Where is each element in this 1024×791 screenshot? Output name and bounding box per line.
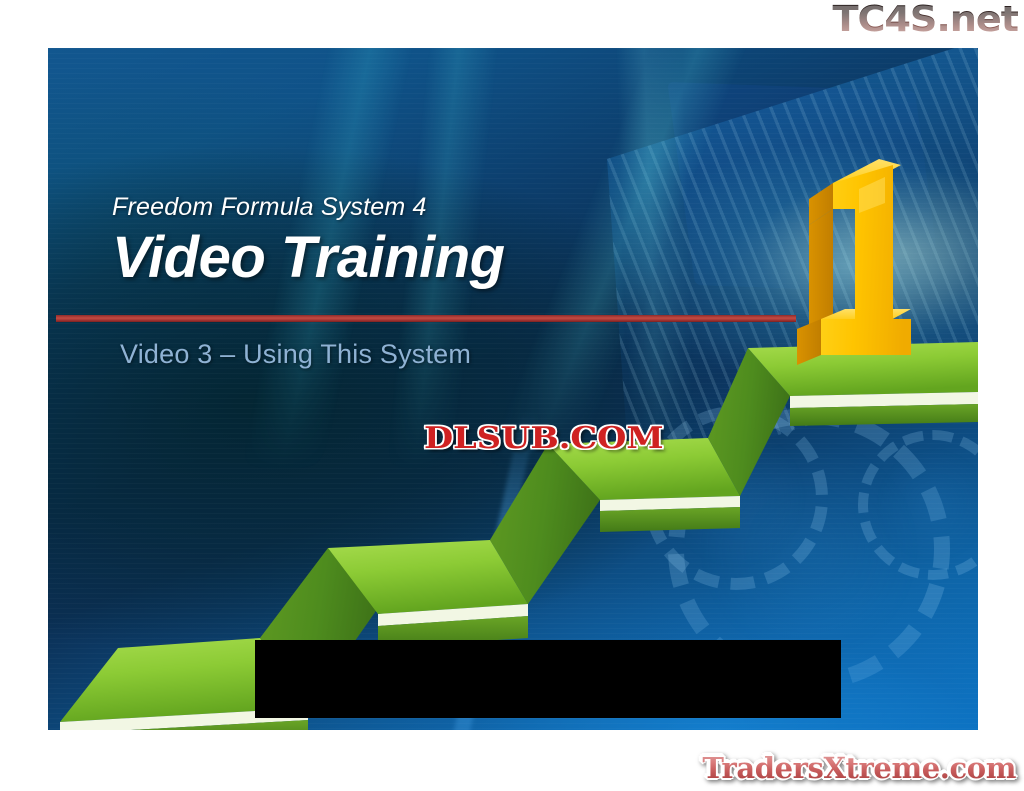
watermark-tradersxtreme: TradersXtreme.com <box>702 754 1016 783</box>
slide-eyebrow: Freedom Formula System 4 <box>112 193 427 222</box>
slide-canvas: Freedom Formula System 4 Video Training … <box>48 48 978 730</box>
page-title: Video Training <box>112 224 505 291</box>
watermark-tc4s: TC4S.net <box>833 2 1018 38</box>
page-canvas: Freedom Formula System 4 Video Training … <box>0 0 1024 791</box>
redaction-bar <box>255 640 841 718</box>
slide-subtitle: Video 3 – Using This System <box>120 339 471 370</box>
numeral-one-graphic <box>793 143 923 373</box>
title-divider <box>56 315 796 322</box>
watermark-dlsub: DLSUB.COM <box>424 424 664 454</box>
